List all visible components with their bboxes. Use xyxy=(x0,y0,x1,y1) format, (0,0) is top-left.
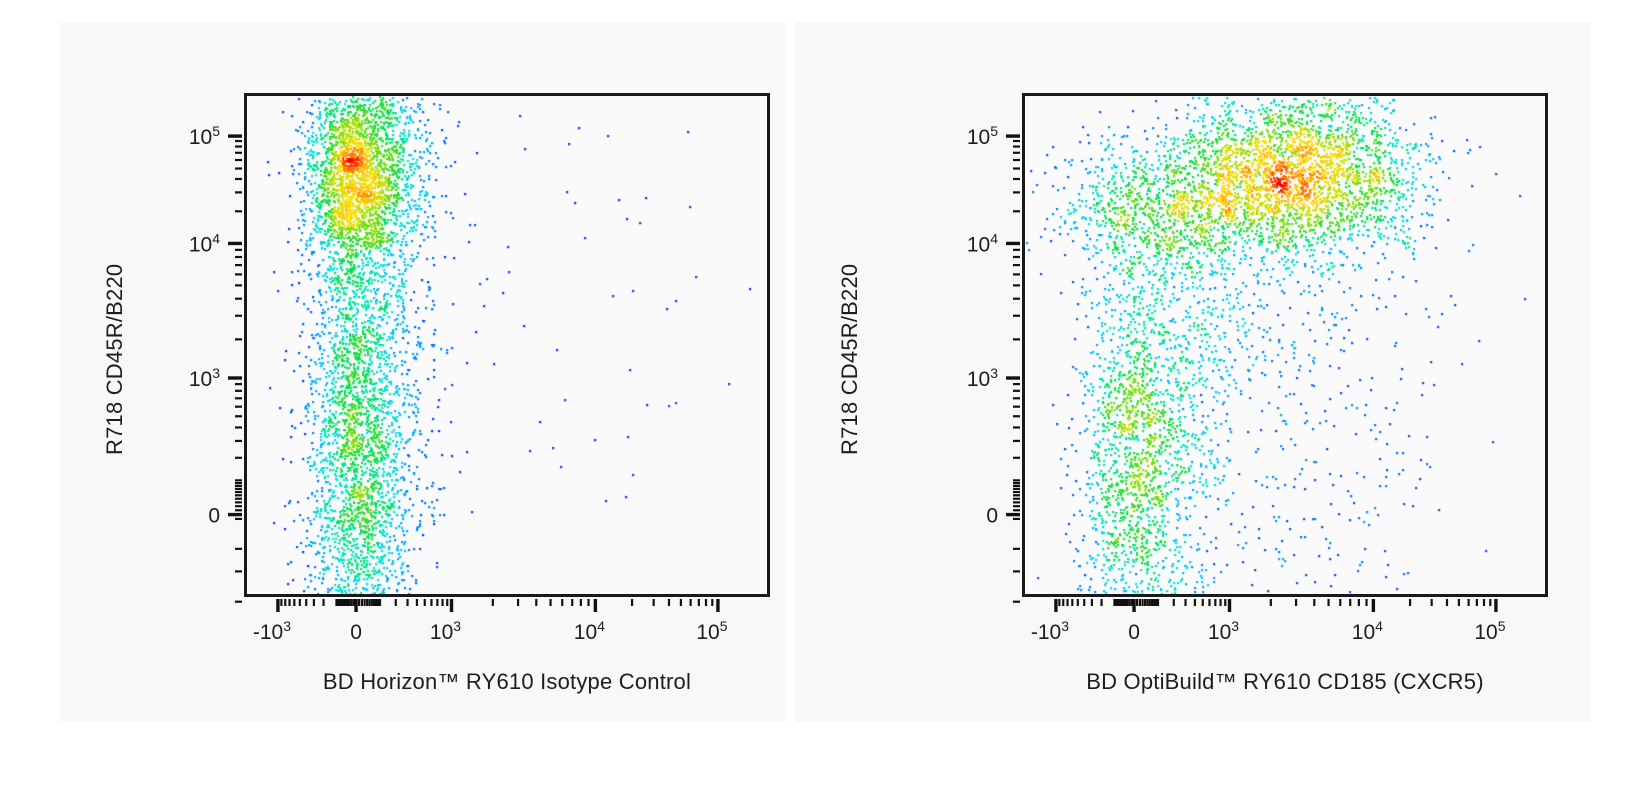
panel-cxcr5: -10301031041051051041030 R718 CD45R/B220… xyxy=(795,22,1590,722)
y-tick-label-1: 104 xyxy=(967,230,998,256)
y-tick-label-3: 0 xyxy=(208,505,220,528)
x-tick-label-1: 0 xyxy=(350,621,362,644)
panel-isotype-control: -10301031041051051041030 R718 CD45R/B220… xyxy=(60,22,785,722)
y-tick-label-2: 103 xyxy=(967,365,998,391)
x-tick-label-4: 105 xyxy=(696,618,727,644)
x-tick-label-2: 103 xyxy=(430,618,461,644)
x-tick-label-2: 103 xyxy=(1208,618,1239,644)
x-tick-label-3: 104 xyxy=(574,618,605,644)
y-axis-title-right: R718 CD45R/B220 xyxy=(837,264,863,455)
flow-cytometry-figure: -10301031041051051041030 R718 CD45R/B220… xyxy=(0,0,1652,787)
x-axis-title-left: BD Horizon™ RY610 Isotype Control xyxy=(244,669,770,695)
axes-right: -10301031041051051041030 xyxy=(795,22,1590,722)
axes-left: -10301031041051051041030 xyxy=(60,22,785,722)
y-axis-title-left: R718 CD45R/B220 xyxy=(102,264,128,455)
y-tick-label-2: 103 xyxy=(189,365,220,391)
y-tick-label-0: 105 xyxy=(189,123,220,149)
x-axis-title-right: BD OptiBuild™ RY610 CD185 (CXCR5) xyxy=(1022,669,1548,695)
y-tick-label-1: 104 xyxy=(189,230,220,256)
y-tick-label-0: 105 xyxy=(967,123,998,149)
x-tick-label-0: -103 xyxy=(1031,618,1069,644)
y-tick-label-3: 0 xyxy=(986,505,998,528)
x-tick-label-0: -103 xyxy=(253,618,291,644)
x-tick-label-3: 104 xyxy=(1352,618,1383,644)
x-tick-label-1: 0 xyxy=(1128,621,1140,644)
x-tick-label-4: 105 xyxy=(1474,618,1505,644)
